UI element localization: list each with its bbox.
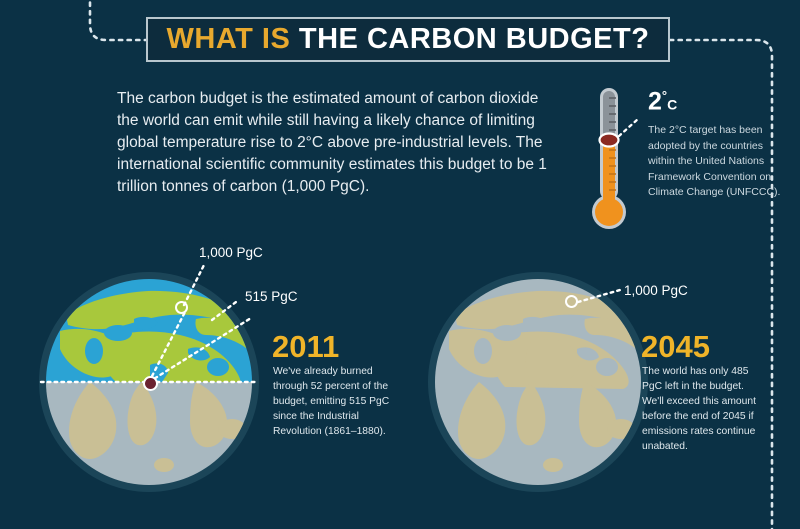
globe-2045-total-label: 1,000 PgC [624, 283, 688, 298]
globe-2011-year: 2011 [272, 331, 339, 362]
globe-2045-blurb: The world has only 485 PgC left in the b… [642, 364, 760, 454]
page-title-box: WHAT IS THE CARBON BUDGET? [146, 17, 670, 62]
globe-2011-marker-used [143, 376, 158, 391]
thermometer-target-marker [600, 134, 619, 147]
page-title: WHAT IS THE CARBON BUDGET? [167, 23, 650, 56]
thermometer-icon [592, 88, 638, 234]
dotted-line-left [90, 0, 146, 40]
page-title-highlight: WHAT IS [167, 23, 291, 55]
globe-2011-total-label: 1,000 PgC [199, 245, 263, 260]
globe-2011-used-label: 515 PgC [245, 289, 298, 304]
globe-2045 [435, 279, 641, 485]
thermometer-leader-line [619, 119, 638, 136]
globe-2045-year: 2045 [641, 331, 710, 362]
thermometer-caption: The 2°C target has been adopted by the c… [648, 123, 788, 201]
thermometer-unit: C [667, 96, 677, 112]
thermometer-value: 2°C [648, 89, 677, 114]
globe-2011-blurb: We've already burned through 52 percent … [273, 364, 391, 439]
intro-paragraph: The carbon budget is the estimated amoun… [117, 88, 557, 198]
infographic-canvas: WHAT IS THE CARBON BUDGET? The carbon bu… [0, 0, 800, 529]
page-title-rest: THE CARBON BUDGET? [299, 23, 650, 55]
thermometer-number: 2 [648, 87, 662, 115]
